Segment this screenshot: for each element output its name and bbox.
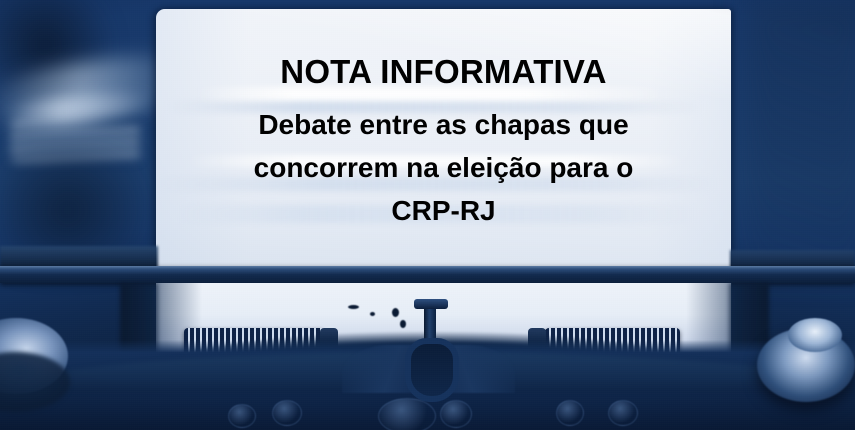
typewriter-key <box>440 400 472 428</box>
typebar-speck <box>400 320 406 328</box>
typewriter-key <box>272 400 302 426</box>
background-blur-right <box>745 0 855 280</box>
typewriter-paper-bail-bar: 0 10 20 30 40 50 60 70 80 <box>0 266 855 283</box>
typebar-speck <box>348 305 359 309</box>
typewriter-rail-left <box>0 246 158 268</box>
type-bar-loop <box>405 338 459 402</box>
notice-subtitle-line-3: CRP-RJ <box>156 189 731 232</box>
typewriter-key <box>378 398 436 430</box>
typewriter-key <box>556 400 584 426</box>
notice-text-block: NOTA INFORMATIVA Debate entre as chapas … <box>156 9 731 232</box>
banner-image: NOTA INFORMATIVA Debate entre as chapas … <box>0 0 855 430</box>
raised-type-bar-head <box>414 299 448 309</box>
notice-subtitle-line-2: concorrem na eleição para o <box>156 146 731 189</box>
typewriter-key <box>228 404 256 428</box>
typebar-speck <box>392 308 399 317</box>
notice-title: NOTA INFORMATIVA <box>156 9 731 88</box>
notice-subtitle: Debate entre as chapas que concorrem na … <box>156 88 731 232</box>
typewriter-key <box>608 400 638 426</box>
typebar-speck <box>370 312 375 316</box>
right-platen-knob-hub <box>788 318 842 352</box>
notice-subtitle-line-1: Debate entre as chapas que <box>156 103 731 146</box>
